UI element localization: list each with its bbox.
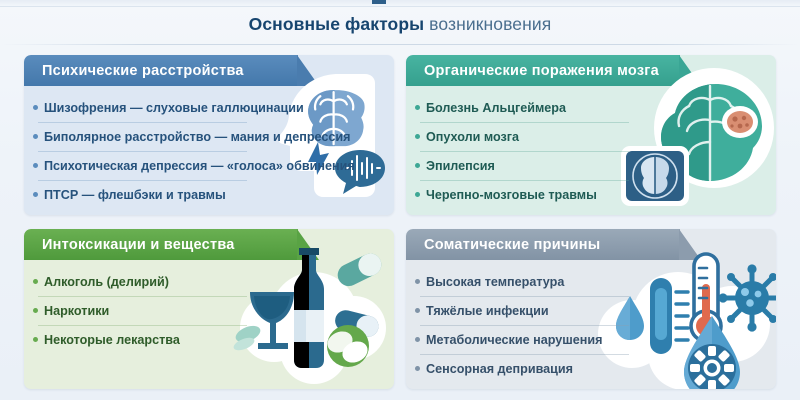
list-item-label: Шизофрения — слуховые галлюцинации [44, 101, 304, 115]
list-item[interactable]: Эпилепсия [406, 151, 635, 180]
card-body-organic-brain-lesions: Болезнь Альцгеймера Опухоли мозга Эпилеп… [406, 86, 776, 215]
bullet-dot-icon [415, 192, 420, 197]
factors-grid: Психические расстройства [24, 55, 776, 393]
list-item-label: Опухоли мозга [426, 130, 519, 144]
card-title: Соматические причины [424, 237, 600, 253]
list-item[interactable]: Сенсорная депривация [406, 354, 635, 383]
card-body-intoxications-substances: Алкоголь (делирий) Наркотики Некоторые л… [24, 260, 394, 389]
page-title-light: возникновения [424, 14, 551, 34]
list-item-label: Алкоголь (делирий) [44, 275, 169, 289]
bullet-dot-icon [415, 366, 420, 371]
card-body-mental-disorders: Шизофрения — слуховые галлюцинации Бипол… [24, 86, 394, 215]
card-somatic-causes[interactable]: Соматические причины [406, 229, 776, 389]
bullet-dot-icon [415, 308, 420, 313]
list-item-label: Некоторые лекарства [44, 333, 180, 347]
card-list-intoxications-substances: Алкоголь (делирий) Наркотики Некоторые л… [24, 267, 253, 354]
page-title: Основные факторы возникновения [0, 14, 800, 35]
card-title: Органические поражения мозга [424, 63, 659, 79]
card-title: Интоксикации и вещества [42, 237, 235, 253]
bullet-dot-icon [33, 134, 38, 139]
title-divider [0, 44, 800, 45]
list-item[interactable]: Тяжёлые инфекции [406, 296, 635, 325]
list-item-label: Наркотики [44, 304, 109, 318]
card-header-somatic-causes: Соматические причины [406, 229, 680, 260]
bullet-dot-icon [415, 163, 420, 168]
bullet-dot-icon [33, 337, 38, 342]
bullet-dot-icon [415, 105, 420, 110]
list-item-label: Сенсорная депривация [426, 362, 573, 376]
list-item[interactable]: Высокая температура [406, 267, 635, 296]
list-item-label: Тяжёлые инфекции [426, 304, 549, 318]
list-item[interactable]: Болезнь Альцгеймера [406, 93, 635, 122]
bullet-dot-icon [33, 308, 38, 313]
list-item-label: Метаболические нарушения [426, 333, 602, 347]
list-item[interactable]: Психотическая депрессия — «голоса» обвин… [24, 151, 253, 180]
list-item-label: Эпилепсия [426, 159, 495, 173]
card-header-intoxications-substances: Интоксикации и вещества [24, 229, 298, 260]
card-title: Психические расстройства [42, 63, 244, 79]
card-mental-disorders[interactable]: Психические расстройства [24, 55, 394, 215]
top-strip-clipped-glyph [372, 0, 386, 4]
bullet-dot-icon [33, 163, 38, 168]
list-item[interactable]: Черепно-мозговые травмы [406, 180, 635, 209]
card-list-organic-brain-lesions: Болезнь Альцгеймера Опухоли мозга Эпилеп… [406, 93, 635, 209]
list-item-label: Биполярное расстройство — мания и депрес… [44, 130, 350, 144]
list-item-label: Высокая температура [426, 275, 564, 289]
bullet-dot-icon [415, 134, 420, 139]
card-list-somatic-causes: Высокая температура Тяжёлые инфекции Мет… [406, 267, 635, 383]
bullet-dot-icon [415, 337, 420, 342]
bullet-dot-icon [415, 279, 420, 284]
bullet-dot-icon [33, 192, 38, 197]
list-item[interactable]: Опухоли мозга [406, 122, 635, 151]
list-item-label: ПТСР — флешбэки и травмы [44, 188, 226, 202]
card-intoxications-substances[interactable]: Интоксикации и вещества [24, 229, 394, 389]
list-item[interactable]: ПТСР — флешбэки и травмы [24, 180, 253, 209]
list-item-label: Болезнь Альцгеймера [426, 101, 566, 115]
top-edge-strip [0, 0, 800, 7]
list-item-label: Психотическая депрессия — «голоса» обвин… [44, 159, 355, 173]
bullet-dot-icon [33, 279, 38, 284]
list-item-label: Черепно-мозговые травмы [426, 188, 597, 202]
bullet-dot-icon [33, 105, 38, 110]
list-item[interactable]: Шизофрения — слуховые галлюцинации [24, 93, 253, 122]
card-header-organic-brain-lesions: Органические поражения мозга [406, 55, 680, 86]
list-item[interactable]: Метаболические нарушения [406, 325, 635, 354]
card-organic-brain-lesions[interactable]: Органические поражения мозга [406, 55, 776, 215]
card-header-mental-disorders: Психические расстройства [24, 55, 298, 86]
list-item[interactable]: Некоторые лекарства [24, 325, 253, 354]
page-title-strong: Основные факторы [249, 14, 425, 34]
list-item[interactable]: Наркотики [24, 296, 253, 325]
list-item[interactable]: Биполярное расстройство — мания и депрес… [24, 122, 253, 151]
list-item[interactable]: Алкоголь (делирий) [24, 267, 253, 296]
card-list-mental-disorders: Шизофрения — слуховые галлюцинации Бипол… [24, 93, 253, 209]
card-body-somatic-causes: Высокая температура Тяжёлые инфекции Мет… [406, 260, 776, 389]
